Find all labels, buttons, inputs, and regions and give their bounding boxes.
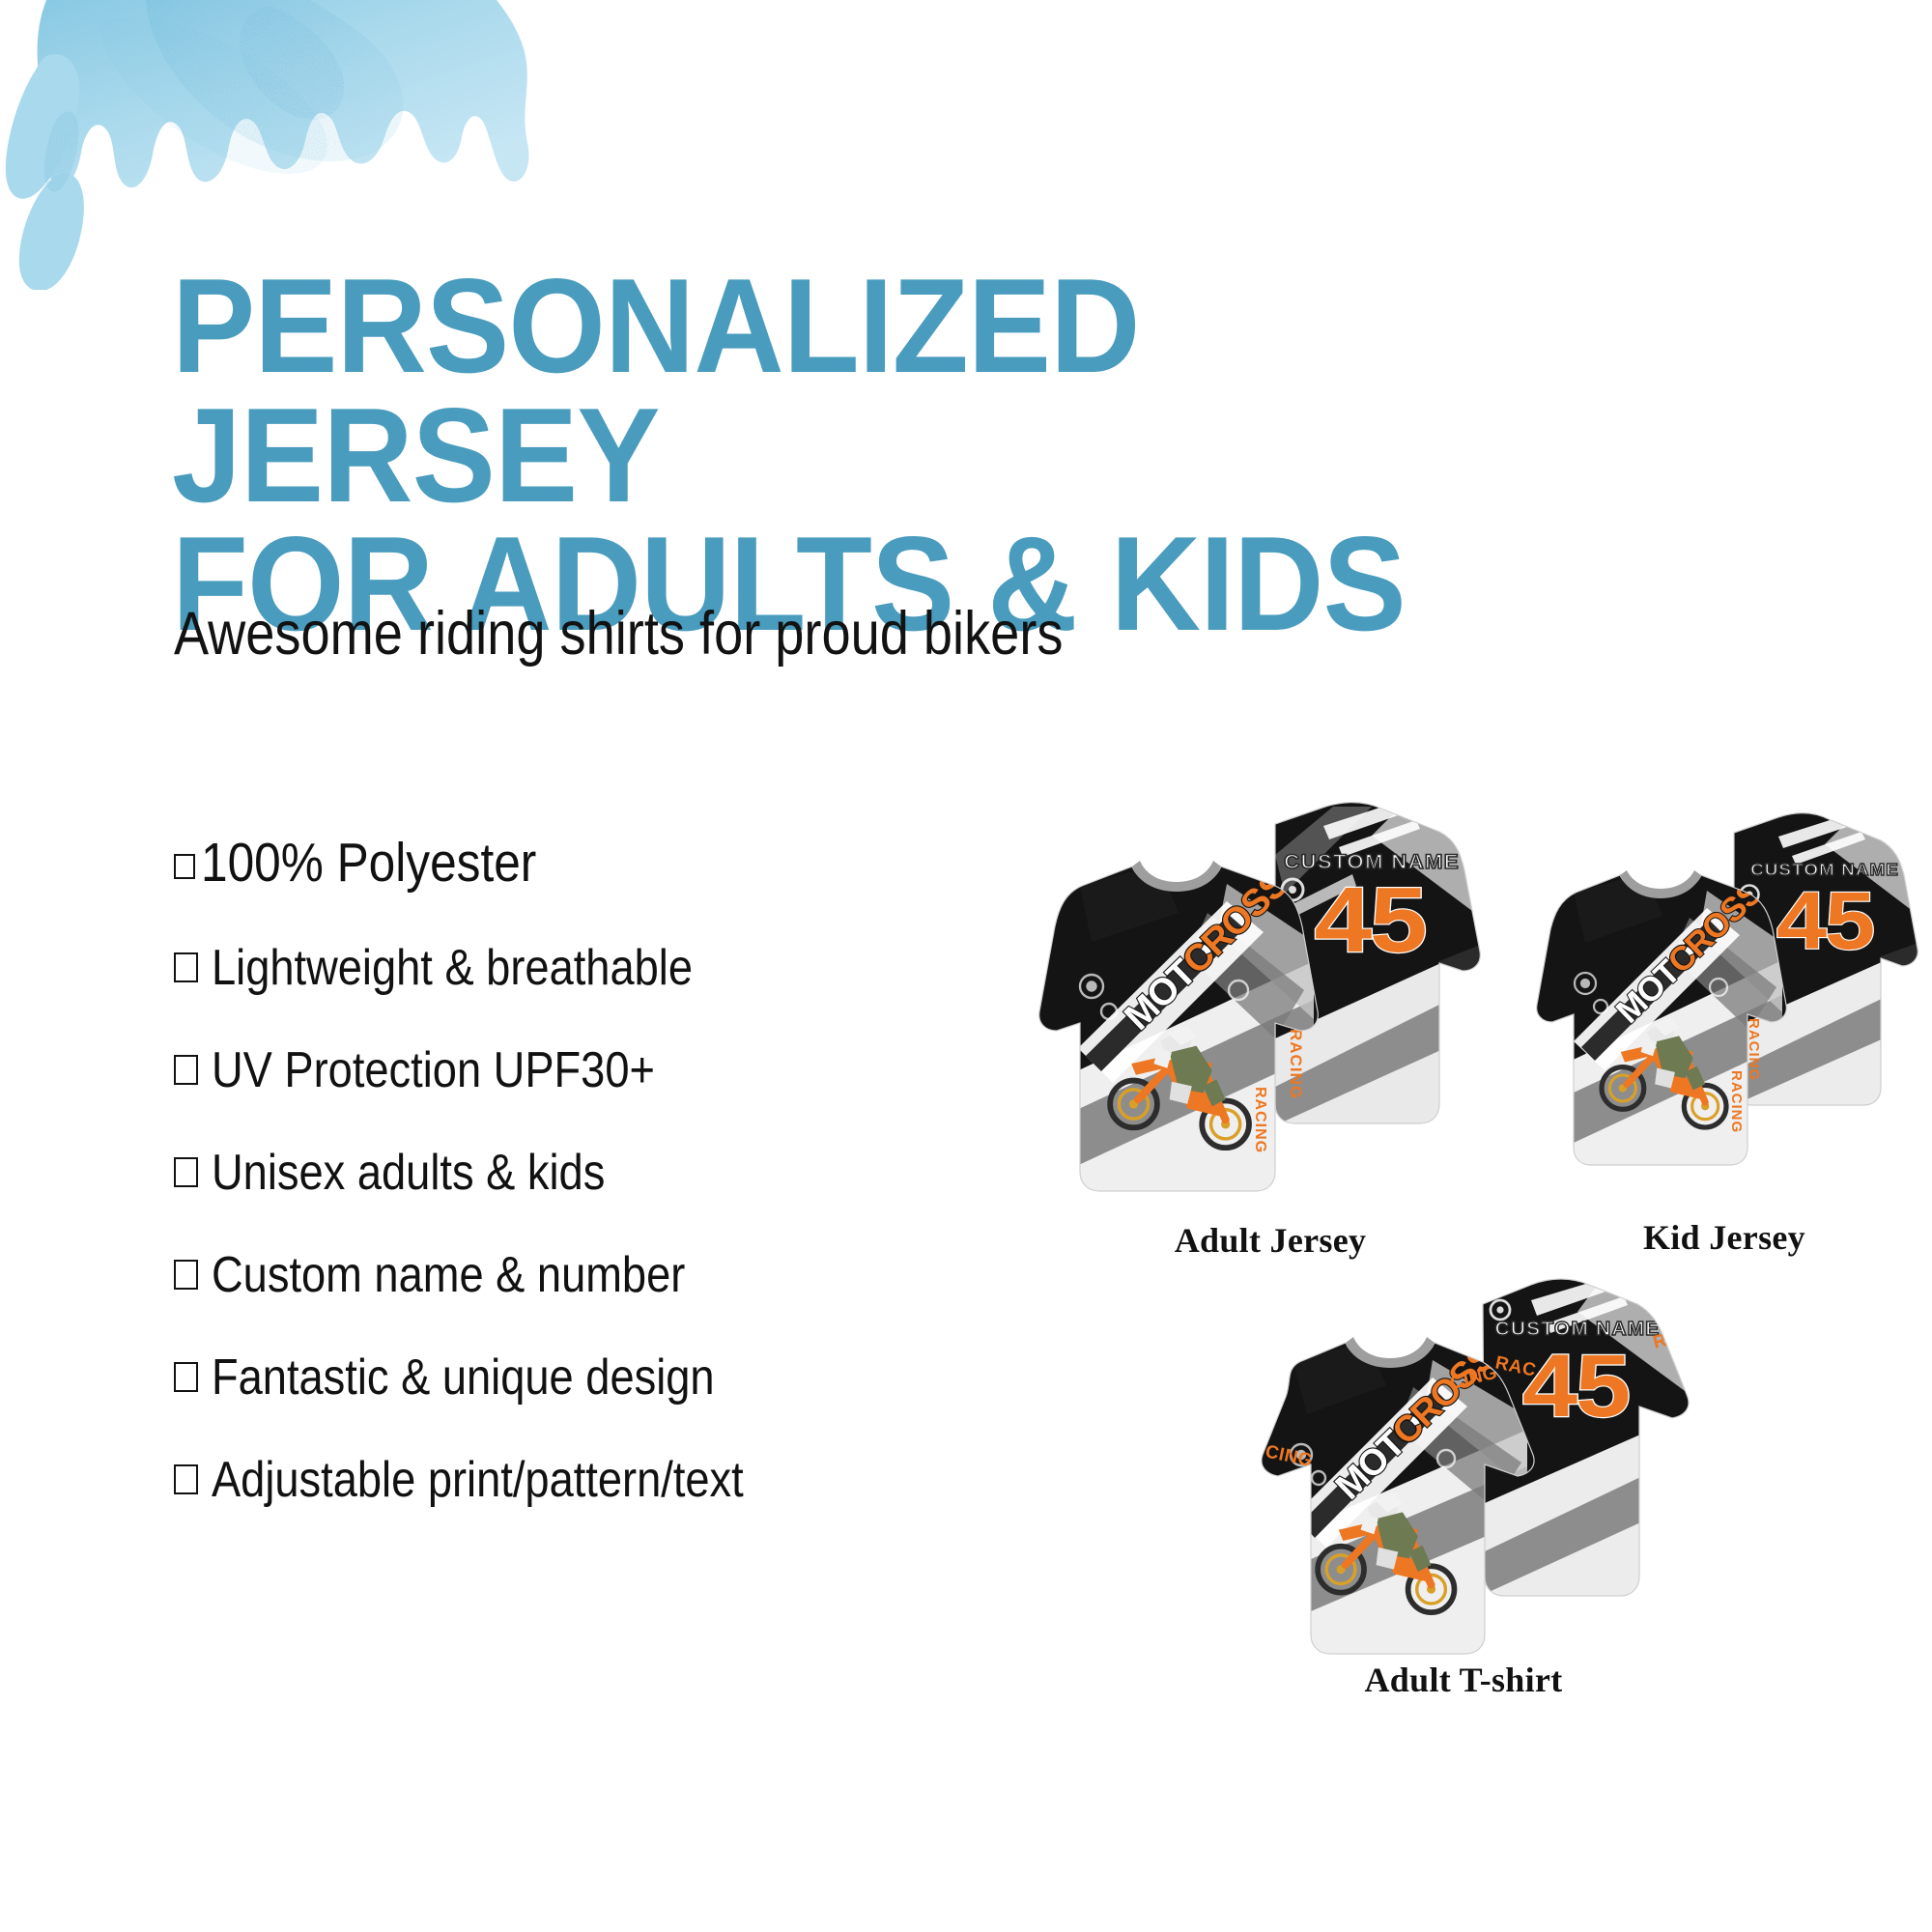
svg-text:45: 45 xyxy=(1314,867,1425,971)
feature-label: Adjustable print/pattern/text xyxy=(212,1451,744,1509)
checkbox-icon xyxy=(174,854,195,879)
feature-label: UV Protection UPF30+ xyxy=(212,1041,655,1099)
feature-item: Lightweight & breathable xyxy=(174,939,966,997)
checkbox-icon xyxy=(174,1464,198,1494)
title-line-1: PERSONALIZED JERSEY xyxy=(172,251,1140,529)
feature-label: 100% Polyester xyxy=(201,831,536,895)
checkbox-icon xyxy=(174,1157,198,1187)
feature-label: Unisex adults & kids xyxy=(212,1144,605,1202)
feature-item: Fantastic & unique design xyxy=(174,1349,966,1406)
feature-item: Adjustable print/pattern/text xyxy=(174,1451,966,1509)
svg-text:RACING: RACING xyxy=(1252,1087,1268,1153)
feature-list: 100% Polyester Lightweight & breathable … xyxy=(174,831,966,1553)
product-caption: Kid Jersey xyxy=(1492,1217,1932,1258)
page-subtitle: Awesome riding shirts for proud bikers xyxy=(174,599,1063,668)
checkbox-icon xyxy=(174,1055,198,1085)
feature-item: UV Protection UPF30+ xyxy=(174,1041,966,1099)
product-kid-jersey: CUSTOM NAME 45 RACING MOTO xyxy=(1492,811,1932,1256)
product-caption: Adult Jersey xyxy=(985,1220,1555,1261)
product-adult-tshirt: CUSTOM NAME 45 RAC RAC xyxy=(1193,1275,1734,1700)
feature-label: Custom name & number xyxy=(212,1246,685,1304)
svg-text:45: 45 xyxy=(1522,1336,1629,1435)
page-title: PERSONALIZED JERSEYFOR ADULTS & KIDS xyxy=(172,262,1628,648)
poster-canvas: PERSONALIZED JERSEYFOR ADULTS & KIDS Awe… xyxy=(0,0,1932,1932)
feature-item: 100% Polyester xyxy=(174,831,966,895)
checkbox-icon xyxy=(174,1362,198,1392)
product-caption: Adult T-shirt xyxy=(1193,1660,1734,1700)
svg-text:45: 45 xyxy=(1776,875,1874,966)
feature-item: Custom name & number xyxy=(174,1246,966,1304)
feature-label: Lightweight & breathable xyxy=(212,939,693,997)
watercolor-splash-decoration xyxy=(0,0,570,290)
svg-text:RACING: RACING xyxy=(1728,1070,1745,1133)
feature-item: Unisex adults & kids xyxy=(174,1144,966,1202)
checkbox-icon xyxy=(174,952,198,982)
feature-label: Fantastic & unique design xyxy=(212,1349,715,1406)
product-adult-jersey: CUSTOM NAME 45 RACING xyxy=(985,797,1555,1261)
svg-text:RACING: RACING xyxy=(1051,1083,1067,1150)
svg-text:RACING: RACING xyxy=(1548,1068,1565,1131)
checkbox-icon xyxy=(174,1260,198,1290)
svg-text:RACING: RACING xyxy=(1287,1029,1305,1099)
